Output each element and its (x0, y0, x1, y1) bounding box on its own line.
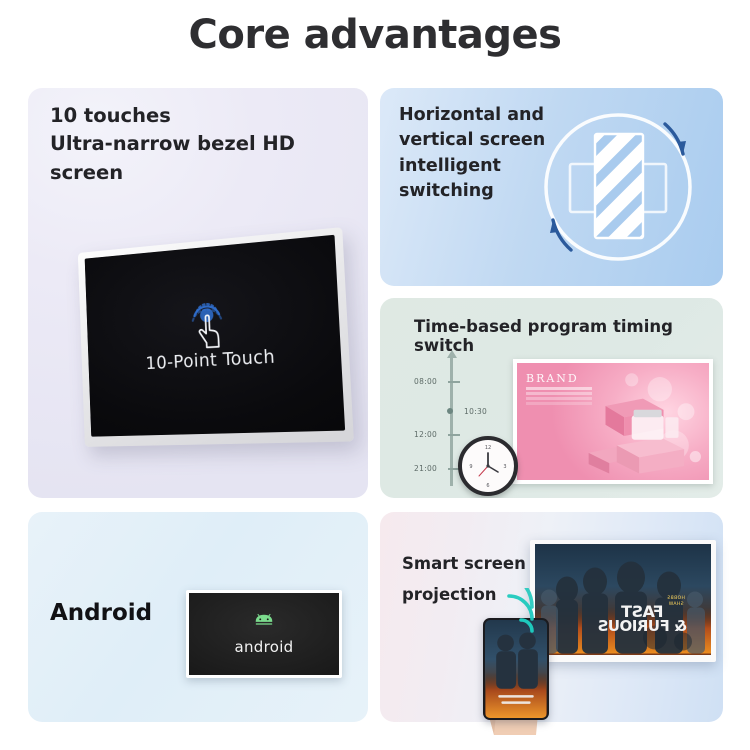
svg-text:12: 12 (485, 445, 491, 451)
monitor-screen: 10-Point Touch (85, 235, 345, 437)
cosmetic-ad-image: BRAND (517, 363, 709, 480)
card-timing-heading: Time-based program timing switch (414, 317, 723, 355)
screen-rotate-icon (523, 92, 713, 282)
timeline-tick-0 (448, 381, 460, 383)
timeline-label-2: 12:00 (414, 430, 437, 439)
timeline-label-3: 21:00 (414, 464, 437, 473)
tv-title-line2: & FURIOUS (598, 619, 687, 633)
card-10-touches-heading: 10 touches Ultra-narrow bezel HD screen (50, 102, 368, 187)
page-title: Core advantages (0, 12, 750, 58)
timeline-label-1: 10:30 (464, 407, 487, 416)
tv-movie-title: FAST & FURIOUS (598, 604, 687, 633)
timeline-tick-1 (447, 408, 453, 414)
tv-screen-content: HOBBS SHAW FAST & FURIOUS (535, 544, 711, 655)
cast-wifi-icon (488, 588, 540, 636)
touchscreen-monitor: 10-Point Touch (58, 226, 348, 466)
monitor-bezel: 10-Point Touch (78, 227, 354, 447)
android-robot-icon (249, 613, 279, 633)
card-10-touches[interactable]: 10 touches Ultra-narrow bezel HD screen … (28, 88, 368, 498)
timeline-label-0: 08:00 (414, 377, 437, 386)
svg-text:6: 6 (486, 483, 489, 489)
ad-display-screen: BRAND (513, 359, 713, 484)
svg-text:9: 9 (469, 464, 472, 470)
timeline-tick-2 (448, 434, 460, 436)
ad-product-art (517, 363, 709, 480)
android-display-screen: android (186, 590, 342, 678)
card-program-timing[interactable]: Time-based program timing switch 08:00 1… (380, 298, 723, 498)
analog-clock-icon: 12 3 6 9 (458, 436, 518, 496)
touch-hand-icon (178, 295, 237, 357)
card-screen-rotation[interactable]: Horizontal and vertical screen intellige… (380, 88, 723, 286)
card-android-heading: Android (50, 600, 152, 626)
svg-text:3: 3 (503, 464, 506, 470)
timeline-axis (450, 356, 453, 486)
android-wordmark: android (234, 638, 293, 656)
